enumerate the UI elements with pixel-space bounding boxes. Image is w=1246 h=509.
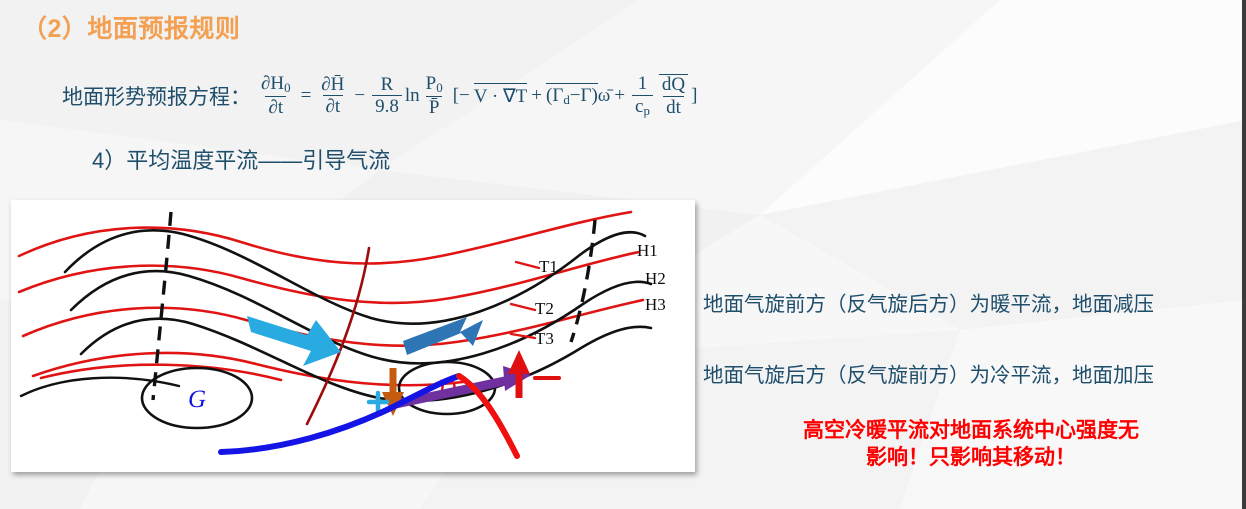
cp-denominator: cp — [632, 95, 653, 118]
static-stability-term: (Γd−Γ) — [546, 83, 598, 108]
one-over-cp-fraction: 1 cp — [632, 74, 653, 117]
r-over-98-fraction: R 9.8 — [372, 75, 402, 118]
bracket-close: ] — [691, 85, 697, 107]
contour-label-h3: H3 — [645, 295, 666, 314]
dhbar-numerator: ∂H̄ — [318, 75, 347, 96]
equals-sign: = — [301, 85, 312, 107]
right-edge-rule — [1242, 0, 1246, 509]
isotherm-label-t1: T1 — [539, 257, 558, 276]
dt-denominator: dt — [663, 96, 684, 118]
p0-over-pbar-fraction: P0 P̄ — [423, 74, 446, 117]
equation-math: ∂H0 ∂t = ∂H̄ ∂t − R 9.8 ln P0 P̄ [− V · … — [255, 74, 697, 118]
equation-label: 地面形势预报方程： — [62, 81, 251, 111]
dq-dt-fraction: dQ dt — [659, 74, 688, 118]
dh0-denominator: ∂t — [265, 96, 286, 118]
conclusion-warning: 高空冷暖平流对地面系统中心强度无 影响！只影响其移动！ — [706, 417, 1236, 472]
dh0-numerator: ∂H0 — [258, 74, 294, 96]
slide: （2）地面预报规则 地面形势预报方程： ∂H0 ∂t = ∂H̄ ∂t − R … — [0, 0, 1246, 509]
conclusion-warning-line-2: 影响！只影响其移动！ — [706, 444, 1236, 471]
contour-label-h1: H1 — [637, 241, 658, 260]
isotherm-label-t3: T3 — [535, 329, 554, 348]
minus-sign: − — [354, 85, 365, 107]
dhbar-denominator: ∂t — [323, 95, 344, 117]
low-center-symbol: G — [188, 386, 206, 413]
temperature-advection-term: V · ∇T — [474, 83, 528, 108]
dhbar-dt-fraction: ∂H̄ ∂t — [318, 75, 347, 118]
plus-sign-2: + — [614, 85, 625, 107]
note-cold-advection: 地面气旋后方（反气旋前方）为冷平流，地面加压 — [703, 358, 1154, 388]
bracket-open: [− — [453, 85, 470, 107]
p0-numerator: P0 — [423, 74, 446, 96]
conclusion-warning-line-1: 高空冷暖平流对地面系统中心强度无 — [706, 417, 1236, 444]
subheading: 4）平均温度平流——引导气流 — [92, 143, 390, 175]
r-numerator: R — [378, 75, 397, 96]
page-title: （2）地面预报规则 — [22, 9, 240, 45]
synoptic-diagram-panel: G D — [11, 200, 695, 472]
forecast-equation-line: 地面形势预报方程： ∂H0 ∂t = ∂H̄ ∂t − R 9.8 ln P0 … — [62, 74, 697, 118]
isotherm-label-t2: T2 — [535, 299, 554, 318]
contour-label-h2: H2 — [645, 269, 666, 288]
ln-operator: ln — [405, 85, 420, 107]
dq-numerator: dQ — [659, 74, 688, 96]
pbar-denominator: P̄ — [426, 96, 443, 118]
note-warm-advection: 地面气旋前方（反气旋后方）为暖平流，地面减压 — [703, 287, 1154, 317]
dh0-dt-fraction: ∂H0 ∂t — [258, 74, 294, 117]
one-numerator: 1 — [635, 74, 651, 95]
plus-sign-1: + — [531, 85, 542, 107]
omega-bar: ω̄ — [598, 85, 611, 107]
r-denominator: 9.8 — [372, 95, 402, 117]
